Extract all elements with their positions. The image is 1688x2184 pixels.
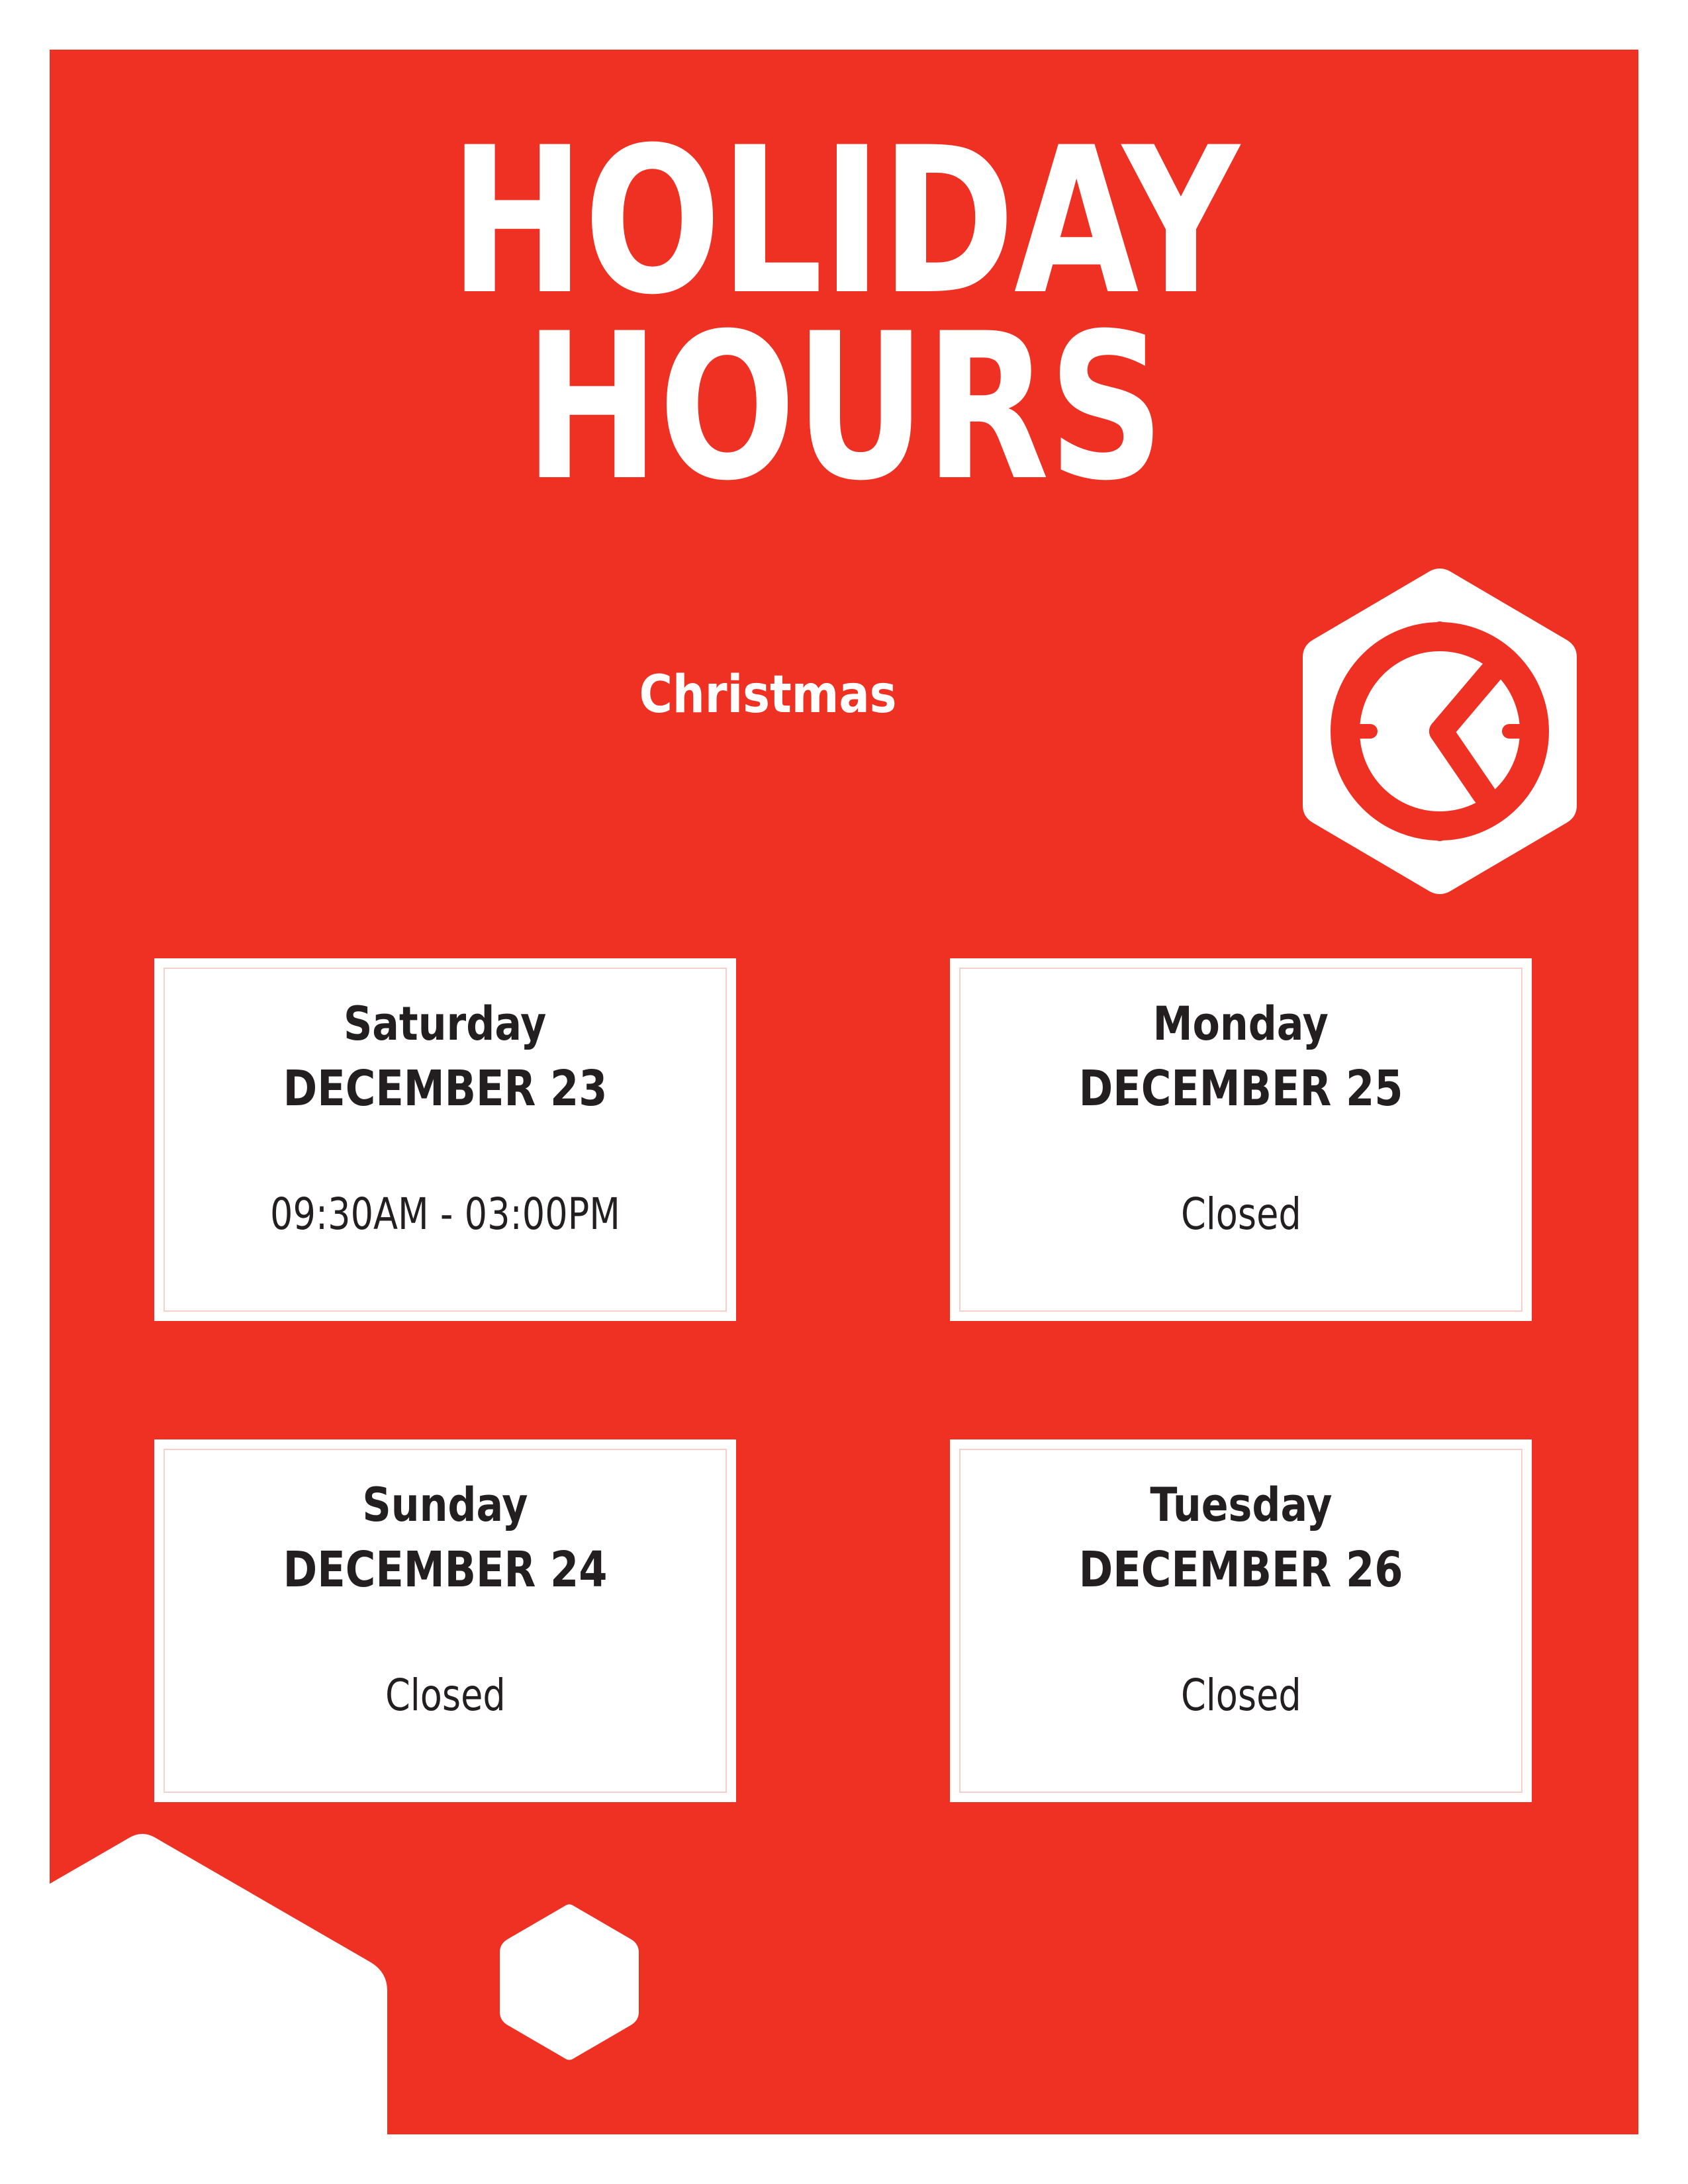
schedule-card[interactable]: Tuesday DECEMBER 26 Closed xyxy=(950,1439,1532,1802)
clock-hexagon-icon xyxy=(1294,566,1585,897)
schedule-day: Sunday xyxy=(362,1482,528,1528)
schedule-hours: Closed xyxy=(385,1674,506,1717)
schedule-card-inner: Monday DECEMBER 25 Closed xyxy=(959,968,1523,1312)
page-title: HOLIDAY HOURS xyxy=(209,129,1479,500)
headline-line-2: HOURS xyxy=(209,315,1479,501)
schedule-card-inner: Tuesday DECEMBER 26 Closed xyxy=(959,1449,1523,1793)
schedule-card[interactable]: Monday DECEMBER 25 Closed xyxy=(950,958,1532,1321)
poster-red-panel: HOLIDAY HOURS Christmas xyxy=(50,50,1638,2134)
schedule-date: DECEMBER 24 xyxy=(283,1545,608,1594)
schedule-hours: Closed xyxy=(1181,1193,1301,1236)
schedule-date: DECEMBER 25 xyxy=(1079,1064,1403,1113)
schedule-day: Tuesday xyxy=(1150,1482,1332,1528)
hexagon-decoration-small xyxy=(500,1903,639,2062)
hexagon-decoration-large xyxy=(50,1830,387,2134)
schedule-card-inner: Saturday DECEMBER 23 09:30AM - 03:00PM xyxy=(164,968,727,1312)
schedule-card[interactable]: Sunday DECEMBER 24 Closed xyxy=(154,1439,736,1802)
schedule-card[interactable]: Saturday DECEMBER 23 09:30AM - 03:00PM xyxy=(154,958,736,1321)
schedule-hours: Closed xyxy=(1181,1674,1301,1717)
schedule-card-inner: Sunday DECEMBER 24 Closed xyxy=(164,1449,727,1793)
holiday-hours-poster: HOLIDAY HOURS Christmas xyxy=(0,0,1688,2184)
schedule-date: DECEMBER 23 xyxy=(283,1064,608,1113)
headline-line-1: HOLIDAY xyxy=(209,129,1479,315)
schedule-hours: 09:30AM - 03:00PM xyxy=(270,1193,620,1236)
schedule-day: Monday xyxy=(1153,1001,1329,1047)
schedule-day: Saturday xyxy=(344,1001,546,1047)
poster-subtitle: Christmas xyxy=(136,665,1400,725)
schedule-grid: Saturday DECEMBER 23 09:30AM - 03:00PM M… xyxy=(154,958,1538,1802)
schedule-date: DECEMBER 26 xyxy=(1079,1545,1403,1594)
